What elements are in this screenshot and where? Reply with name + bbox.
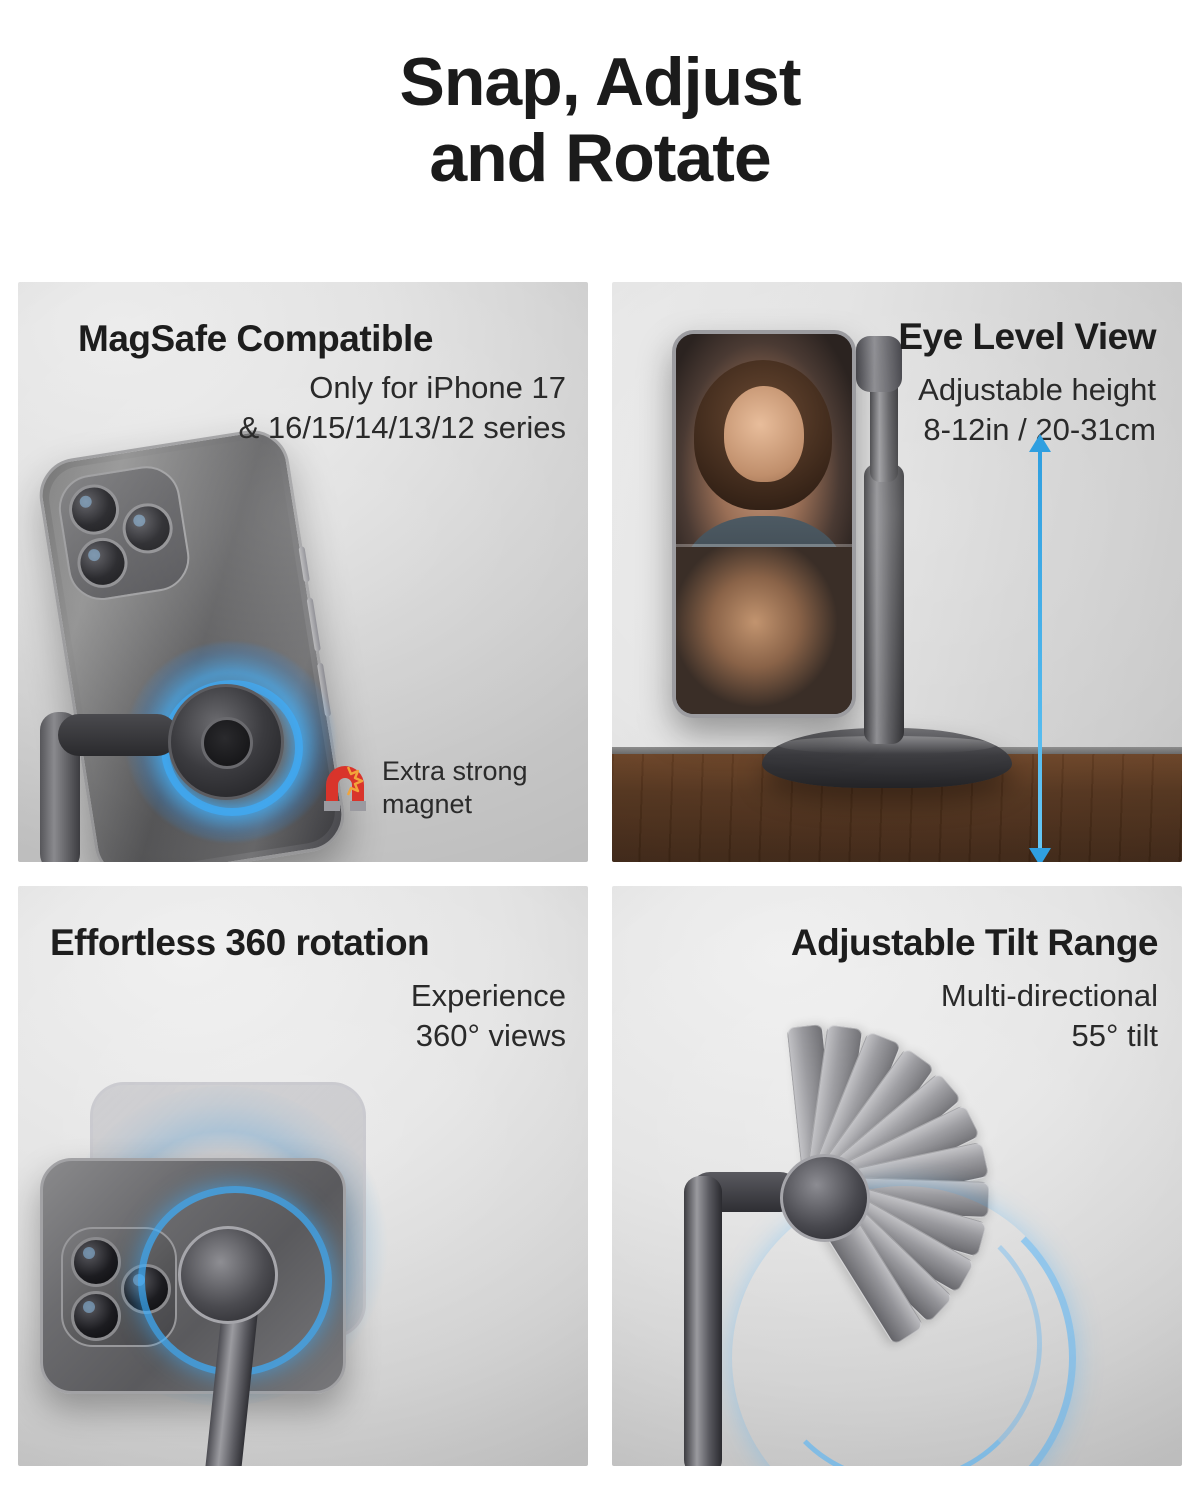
panel-title: Effortless 360 rotation [50,922,429,964]
panel-adjustable-tilt-range: Adjustable Tilt Range Multi-directional … [612,886,1182,1466]
camera-lens-icon [71,1237,121,1287]
headline-line-1: Snap, Adjust [399,44,800,120]
magnet-badge-label: Extra strong magnet [382,755,562,820]
camera-island-icon [54,461,194,605]
panel-360-rotation: Effortless 360 rotation Experience 360° … [18,886,588,1466]
feature-panel-grid: MagSafe Compatible Only for iPhone 17 & … [18,282,1182,1466]
magnetic-mount-head [168,684,284,800]
tilt-mount-head [780,1154,870,1242]
panel-title: Eye Level View [898,316,1156,358]
extra-strong-magnet-badge: Extra strong magnet [318,755,562,820]
product-feature-infographic: Snap, Adjust and Rotate Mag [0,0,1200,1500]
panel-title: MagSafe Compatible [78,318,433,360]
camera-lens-icon [119,500,176,557]
panel-title: Adjustable Tilt Range [791,922,1158,964]
camera-lens-icon [74,534,131,591]
stand-pole [684,1176,722,1466]
person-face [724,386,804,482]
iphone-facetime-illustration [672,330,856,718]
mount-arm [58,714,178,756]
facetime-video-secondary [676,547,852,714]
panel-subtitle: Only for iPhone 17 & 16/15/14/13/12 seri… [46,368,566,447]
stand-pole [864,464,904,744]
panel-magsafe-compatible: MagSafe Compatible Only for iPhone 17 & … [18,282,588,862]
height-adjust-arrow-icon [1038,450,1042,850]
camera-lens-icon [71,1291,121,1341]
panel-eye-level-view: Eye Level View Adjustable height 8-12in … [612,282,1182,862]
tilt-motion-arc-inner [762,1204,1042,1466]
camera-lens-icon [65,481,122,538]
page-title: Snap, Adjust and Rotate [0,0,1200,196]
rotating-mount-head [178,1226,278,1324]
headline-line-2: and Rotate [0,120,1200,196]
panel-subtitle: Experience 360° views [96,976,566,1055]
panel-subtitle: Multi-directional 55° tilt [718,976,1158,1055]
